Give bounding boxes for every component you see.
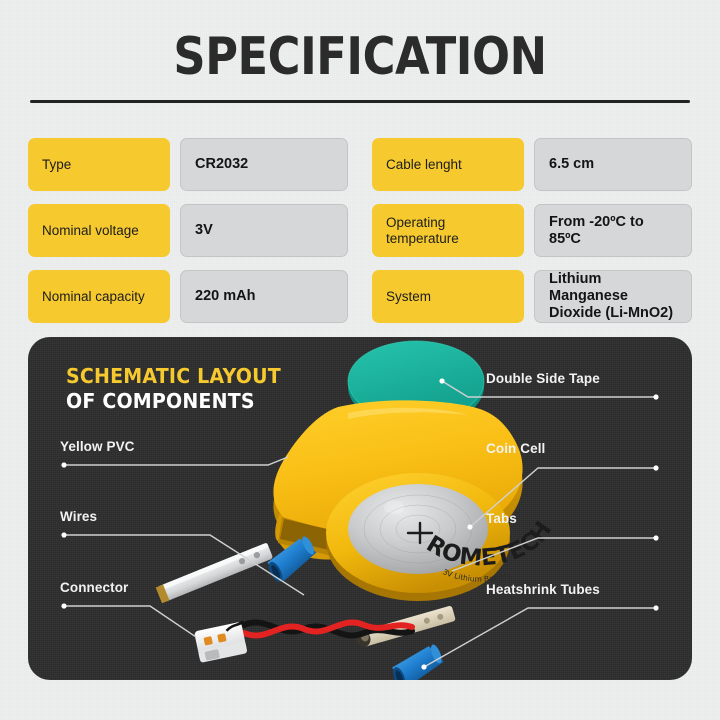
- specification-table: Type CR2032 Nominal voltage 3V Nominal c…: [28, 138, 692, 323]
- spec-value-type: CR2032: [180, 138, 348, 191]
- spec-value-nominal-voltage: 3V: [180, 204, 348, 257]
- spec-column-left: Type CR2032 Nominal voltage 3V Nominal c…: [28, 138, 348, 323]
- spec-row-system: System Lithium Manganese Dioxide (Li-MnO…: [372, 270, 692, 323]
- spec-key-operating-temperature: Operating temperature: [372, 204, 524, 257]
- spec-key-cable-lenght: Cable lenght: [372, 138, 524, 191]
- schematic-panel: SCHEMATIC LAYOUT OF COMPONENTS: [28, 337, 692, 680]
- spec-key-nominal-voltage: Nominal voltage: [28, 204, 170, 257]
- spec-row-cable-lenght: Cable lenght 6.5 cm: [372, 138, 692, 191]
- spec-row-nominal-capacity: Nominal capacity 220 mAh: [28, 270, 348, 323]
- page-title: SPECIFICATION: [50, 28, 669, 86]
- spec-row-type: Type CR2032: [28, 138, 348, 191]
- callout-leader-heatshrink-tubes: [28, 337, 692, 680]
- header-divider: [30, 100, 690, 103]
- spec-column-right: Cable lenght 6.5 cm Operating temperatur…: [372, 138, 692, 323]
- spec-row-operating-temperature: Operating temperature From -20ºC to 85ºC: [372, 204, 692, 257]
- spec-value-system: Lithium Manganese Dioxide (Li-MnO2): [534, 270, 692, 323]
- spec-value-operating-temperature: From -20ºC to 85ºC: [534, 204, 692, 257]
- spec-key-nominal-capacity: Nominal capacity: [28, 270, 170, 323]
- spec-key-system: System: [372, 270, 524, 323]
- spec-value-cable-lenght: 6.5 cm: [534, 138, 692, 191]
- spec-key-type: Type: [28, 138, 170, 191]
- spec-value-nominal-capacity: 220 mAh: [180, 270, 348, 323]
- spec-row-nominal-voltage: Nominal voltage 3V: [28, 204, 348, 257]
